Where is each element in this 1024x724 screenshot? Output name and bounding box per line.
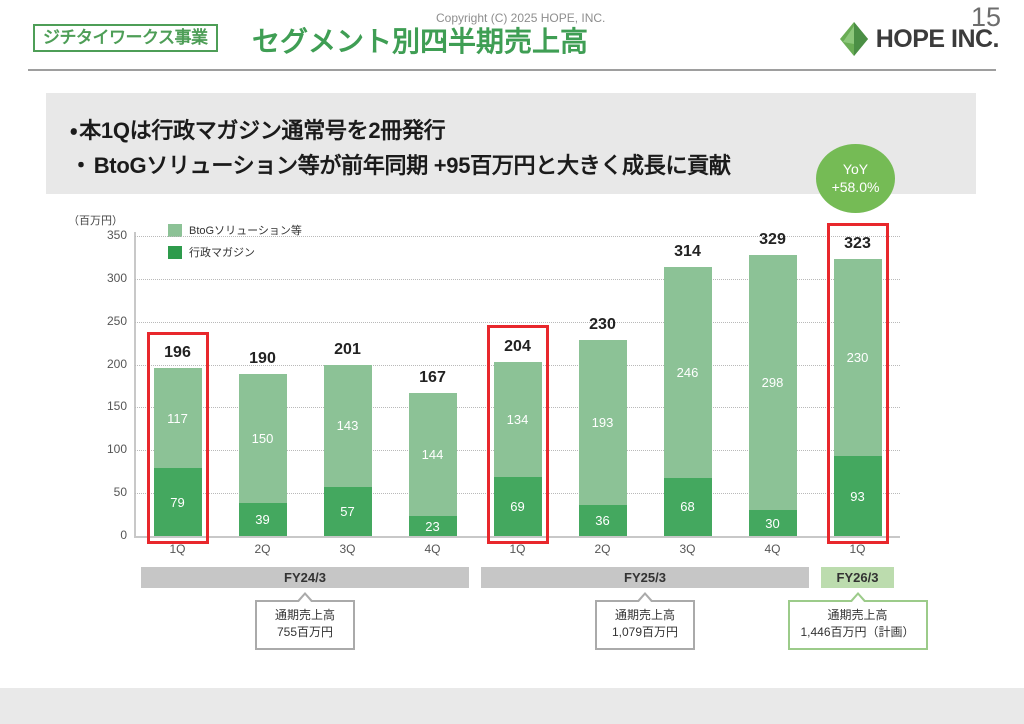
callout-line-1: 通期売上高 [605,607,685,624]
callout-tip-inner [638,595,652,603]
bar-segment-magazine[interactable]: 68 [664,478,712,536]
y-tick-label-50: 50 [81,485,127,499]
fiscal-year-band-FY26-3: FY26/3 [821,567,894,588]
slide-root: ジチタイワークス事業 セグメント別四半期売上高 HOPE INC. ・本1Qは行… [0,0,1024,724]
x-tick-label: 1Q [473,542,563,556]
y-tick-label-300: 300 [81,271,127,285]
x-tick-label: 4Q [388,542,478,556]
callout-line-2: 1,446百万円（計画） [798,624,918,641]
bar-group[interactable]: 302983294Q [749,236,797,536]
page-number: 15 [971,2,1001,33]
y-tick-label-100: 100 [81,442,127,456]
x-tick-label: 3Q [303,542,393,556]
bar-segment-btog[interactable]: 144 [409,393,457,516]
bar-group[interactable]: 231441674Q [409,236,457,536]
callout-line-1: 通期売上高 [798,607,918,624]
bar-segment-magazine[interactable]: 57 [324,487,372,536]
y-axis-unit-label: （百万円） [68,212,123,228]
bar-total-label: 201 [303,341,393,359]
bar-segment-btog[interactable]: 150 [239,374,287,503]
annual-revenue-callout: 通期売上高1,446百万円（計画） [788,600,928,650]
annual-revenue-callout: 通期売上高1,079百万円 [595,600,695,650]
bar-group[interactable]: 391501902Q [239,236,287,536]
x-tick-label: 3Q [643,542,733,556]
y-tick-label-0: 0 [81,528,127,542]
bar-segment-magazine[interactable]: 23 [409,516,457,536]
callout-line-2: 755百万円 [265,624,345,641]
bar-group[interactable]: 682463143Q [664,236,712,536]
highlight-box [487,325,549,544]
bar-group[interactable]: 361932302Q [579,236,627,536]
bar-total-label: 329 [728,231,818,249]
x-tick-label: 2Q [218,542,308,556]
y-tick-label-150: 150 [81,399,127,413]
bar-total-label: 314 [643,243,733,261]
bar-segment-magazine[interactable]: 39 [239,503,287,536]
bar-group[interactable]: 571432013Q [324,236,372,536]
bar-total-label: 230 [558,316,648,334]
x-tick-label: 1Q [813,542,903,556]
x-tick-label: 2Q [558,542,648,556]
bar-segment-btog[interactable]: 298 [749,255,797,510]
y-tick-label-250: 250 [81,314,127,328]
highlight-box [147,332,209,544]
fiscal-year-band-FY24-3: FY24/3 [141,567,469,588]
bar-segment-magazine[interactable]: 36 [579,505,627,536]
y-tick-label-350: 350 [81,228,127,242]
bar-segment-btog[interactable]: 143 [324,365,372,488]
fiscal-year-band-FY25-3: FY25/3 [481,567,809,588]
annual-revenue-callout: 通期売上高755百万円 [255,600,355,650]
highlight-box [827,223,889,544]
copyright-text: Copyright (C) 2025 HOPE, INC. [436,11,605,25]
bar-total-label: 190 [218,350,308,368]
callout-tip-inner [298,595,312,603]
slide-footer [0,688,1024,724]
bar-segment-btog[interactable]: 193 [579,340,627,505]
legend-swatch-btog [168,224,182,237]
y-tick-label-200: 200 [81,357,127,371]
bar-segment-btog[interactable]: 246 [664,267,712,478]
bar-segment-magazine[interactable]: 30 [749,510,797,536]
bar-total-label: 167 [388,369,478,387]
callout-tip-inner [851,595,865,603]
x-tick-label: 1Q [133,542,223,556]
callout-line-1: 通期売上高 [265,607,345,624]
x-tick-label: 4Q [728,542,818,556]
callout-line-2: 1,079百万円 [605,624,685,641]
